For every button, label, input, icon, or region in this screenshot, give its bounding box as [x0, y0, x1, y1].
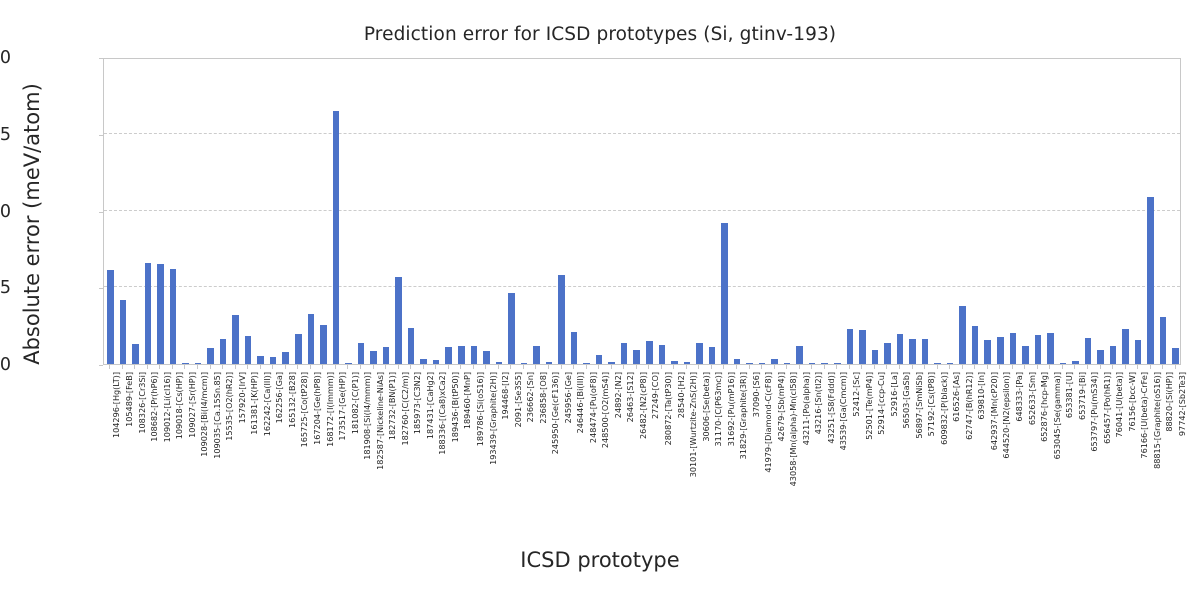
- y-tick-label: 0: [0, 355, 11, 375]
- y-tick-label: 15: [0, 125, 11, 145]
- bar: [471, 346, 478, 364]
- bar: [834, 363, 841, 364]
- x-tick-label: 653719-[Bi]: [1078, 372, 1087, 420]
- x-tick-label: 245956-[Ge]: [564, 372, 573, 423]
- x-tick-mark: [285, 365, 286, 369]
- bar: [195, 363, 202, 364]
- bar: [282, 352, 289, 364]
- x-tick-label: 185973-[C3N2]: [413, 372, 422, 434]
- x-tick-mark: [172, 365, 173, 369]
- x-tick-label: 642937-[Mn(cP20)]: [990, 372, 999, 450]
- x-tick-label: 43539-[Ga(Cmcm)]: [839, 372, 848, 450]
- y-tick-label: 5: [0, 278, 11, 298]
- x-tick-mark: [1062, 365, 1063, 369]
- x-tick-label: 26463-[S12]: [626, 372, 635, 422]
- x-tick-label: 52501-[Te(mP4)]: [865, 372, 874, 440]
- y-tick-mark: [99, 135, 103, 136]
- bar: [521, 363, 528, 364]
- bar: [671, 361, 678, 364]
- bar: [746, 363, 753, 364]
- x-tick-label: 43251-[S8(Fddd)]: [827, 372, 836, 444]
- x-tick-label: 41979-[Diamond-C(cF8)]: [764, 372, 773, 473]
- x-tick-label: 31692-[Pu(mP16)]: [727, 372, 736, 446]
- bar: [220, 339, 227, 364]
- x-tick-mark: [686, 365, 687, 369]
- bar: [1022, 346, 1029, 364]
- x-tick-label: 109028-[Bi(I4/mcm)]: [200, 372, 209, 457]
- bar: [358, 343, 365, 364]
- bar: [1072, 361, 1079, 364]
- x-tick-label: 62747-[B(hR12)]: [965, 372, 974, 440]
- x-tick-label: 24892-[N2]: [614, 372, 623, 418]
- x-tick-label: 193439-[Graphite(2H)]: [489, 372, 498, 465]
- x-tick-mark: [1175, 365, 1176, 369]
- x-tick-label: 88820-[Si(HP)]: [1165, 372, 1174, 432]
- x-tick-mark: [786, 365, 787, 369]
- x-tick-mark: [711, 365, 712, 369]
- x-tick-label: 109035-[Ca.15Sn.85]: [213, 372, 222, 459]
- bar: [308, 314, 315, 364]
- bar: [182, 363, 189, 364]
- x-tick-mark: [974, 365, 975, 369]
- x-tick-mark: [824, 365, 825, 369]
- x-tick-label: 246446-[Bi(III)]: [576, 372, 585, 433]
- x-tick-mark: [1125, 365, 1126, 369]
- x-tick-mark: [398, 365, 399, 369]
- x-tick-mark: [573, 365, 574, 369]
- x-tick-label: 189460-[MnP]: [463, 372, 472, 429]
- bar: [709, 347, 716, 364]
- x-tick-label: 280872-[Ta(tP30)]: [664, 372, 673, 445]
- bar: [1047, 333, 1054, 364]
- x-tick-label: 97742-[Sb2Te3]: [1178, 372, 1187, 436]
- bar: [508, 293, 515, 364]
- bar: [383, 347, 390, 364]
- bar: [571, 332, 578, 364]
- bar: [333, 111, 340, 364]
- bar: [997, 337, 1004, 364]
- bar: [771, 359, 778, 364]
- x-tick-label: 43216-[Sn(tI2)]: [814, 372, 823, 434]
- bar: [784, 363, 791, 364]
- x-tick-label: 639810-[In]: [977, 372, 986, 420]
- x-tick-mark: [561, 365, 562, 369]
- x-tick-label: 157920-[IrV]: [238, 372, 247, 423]
- x-tick-mark: [736, 365, 737, 369]
- x-tick-mark: [636, 365, 637, 369]
- x-tick-mark: [861, 365, 862, 369]
- bar: [659, 345, 666, 364]
- y-tick-mark: [99, 288, 103, 289]
- x-tick-mark: [272, 365, 273, 369]
- x-tick-mark: [134, 365, 135, 369]
- bar: [433, 360, 440, 364]
- bar: [1085, 338, 1092, 364]
- x-tick-label: 248500-[O2(mS4)]: [601, 372, 610, 448]
- bar: [445, 347, 452, 364]
- bar: [132, 344, 139, 364]
- bar: [972, 326, 979, 364]
- x-tick-mark: [586, 365, 587, 369]
- x-tick-label: 245950-[Ge(cF136)]: [551, 372, 560, 454]
- bar: [170, 269, 177, 364]
- bar: [759, 363, 766, 364]
- bar: [984, 340, 991, 364]
- x-tick-label: 188336-[(Ca8)xCa2]: [438, 372, 447, 455]
- bar: [107, 270, 114, 364]
- x-tick-mark: [1100, 365, 1101, 369]
- x-tick-mark: [235, 365, 236, 369]
- x-tick-mark: [799, 365, 800, 369]
- bar: [120, 300, 127, 364]
- x-tick-mark: [924, 365, 925, 369]
- x-tick-mark: [184, 365, 185, 369]
- bar: [458, 346, 465, 364]
- bar: [684, 362, 691, 364]
- x-tick-label: 76041-[U(beta)]: [1115, 372, 1124, 437]
- bar-series: [104, 59, 1180, 364]
- x-tick-label: 27249-[CO]: [651, 372, 660, 419]
- x-tick-mark: [523, 365, 524, 369]
- bar: [157, 264, 164, 364]
- x-tick-label: 182732-[BN(P1)]: [388, 372, 397, 440]
- x-tick-mark: [197, 365, 198, 369]
- bar: [295, 334, 302, 364]
- x-tick-mark: [761, 365, 762, 369]
- x-tick-label: 26482-[N2(cP8)]: [639, 372, 648, 439]
- x-tick-mark: [297, 365, 298, 369]
- x-tick-label: 30606-[Se(beta)]: [702, 372, 711, 442]
- x-axis-ticks: 104296-[Hg(LT)]105489-[FeB]108326-[Cr3Si…: [103, 365, 1181, 550]
- x-tick-mark: [1024, 365, 1025, 369]
- x-tick-mark: [360, 365, 361, 369]
- x-tick-label: 181082-[C(P1)]: [351, 372, 360, 434]
- bar: [734, 359, 741, 364]
- bar: [884, 343, 891, 364]
- x-tick-mark: [811, 365, 812, 369]
- bar: [897, 334, 904, 364]
- x-tick-mark: [159, 365, 160, 369]
- x-tick-label: 52916-[La]: [890, 372, 899, 416]
- x-tick-mark: [473, 365, 474, 369]
- bar: [408, 328, 415, 364]
- bar: [245, 336, 252, 364]
- x-tick-label: 652633-[Sm]: [1028, 372, 1037, 425]
- x-tick-label: 656457-[Po(hR1)]: [1103, 372, 1112, 444]
- x-tick-mark: [774, 365, 775, 369]
- x-tick-label: 653797-[Pu(mS34)]: [1090, 372, 1099, 452]
- x-tick-label: 181908-[Si(I4/mmm)]: [363, 372, 372, 460]
- x-tick-label: 109027-[Sr(HP)]: [188, 372, 197, 438]
- bar: [1172, 348, 1179, 364]
- x-tick-mark: [1049, 365, 1050, 369]
- bar: [558, 275, 565, 364]
- x-tick-mark: [912, 365, 913, 369]
- x-tick-mark: [1087, 365, 1088, 369]
- x-tick-mark: [460, 365, 461, 369]
- x-tick-label: 109012-[Li(cI16)]: [163, 372, 172, 442]
- x-tick-label: 616526-[As]: [952, 372, 961, 422]
- x-tick-label: 162256-[Ga]: [275, 372, 284, 423]
- x-tick-mark: [335, 365, 336, 369]
- x-tick-mark: [937, 365, 938, 369]
- x-tick-mark: [435, 365, 436, 369]
- x-tick-label: 236858-[O8]: [539, 372, 548, 424]
- bar: [1060, 363, 1067, 364]
- x-tick-mark: [849, 365, 850, 369]
- bar: [320, 325, 327, 364]
- x-tick-label: 653381-[U]: [1065, 372, 1074, 418]
- x-tick-label: 56897-[SmNiSb]: [915, 372, 924, 439]
- x-tick-mark: [1150, 365, 1151, 369]
- bar: [621, 343, 628, 364]
- bar: [420, 359, 427, 364]
- bar: [696, 343, 703, 364]
- bar: [947, 363, 954, 364]
- x-tick-label: 189786-[Si(oS16)]: [476, 372, 485, 446]
- x-tick-label: 43058-[Mn(alpha)-Mn(cI58)]: [789, 372, 798, 486]
- bar: [533, 346, 540, 364]
- x-tick-mark: [109, 365, 110, 369]
- bar: [483, 351, 490, 364]
- bar: [345, 363, 352, 364]
- bar: [270, 357, 277, 364]
- x-tick-label: 42679-[Sb(mP4)]: [777, 372, 786, 442]
- x-tick-mark: [673, 365, 674, 369]
- bar: [496, 362, 503, 364]
- x-tick-label: 165725-[Co(tP28)]: [300, 372, 309, 447]
- bar: [872, 350, 879, 364]
- bar: [1160, 317, 1167, 364]
- bar: [1110, 346, 1117, 364]
- x-tick-mark: [886, 365, 887, 369]
- x-tick-label: 57192-[Cs(tP8)]: [927, 372, 936, 436]
- x-tick-label: 182760-[C(C2/m)]: [401, 372, 410, 446]
- bar: [796, 346, 803, 364]
- bar: [608, 362, 615, 364]
- x-tick-label: 108682-[Pr(hP6)]: [150, 372, 159, 442]
- x-tick-label: 2091-[Se3S5]: [514, 372, 523, 427]
- x-tick-mark: [1112, 365, 1113, 369]
- x-tick-label: 76156-[bcc-W]: [1128, 372, 1137, 432]
- bar: [145, 263, 152, 364]
- x-tick-mark: [222, 365, 223, 369]
- bar: [847, 329, 854, 364]
- x-tick-mark: [147, 365, 148, 369]
- x-tick-label: 653045-[Se(gamma)]: [1053, 372, 1062, 459]
- y-axis-label: Absolute error (meV/atom): [20, 44, 44, 404]
- x-tick-mark: [949, 365, 950, 369]
- x-tick-mark: [548, 365, 549, 369]
- bar: [859, 330, 866, 364]
- x-tick-label: 194468-[I2]: [501, 372, 510, 420]
- x-tick-mark: [410, 365, 411, 369]
- x-tick-label: 248474-[Pu(oF8)]: [589, 372, 598, 443]
- bar: [1147, 197, 1154, 364]
- x-tick-mark: [260, 365, 261, 369]
- x-tick-mark: [661, 365, 662, 369]
- x-tick-label: 105489-[FeB]: [125, 372, 134, 427]
- x-tick-mark: [611, 365, 612, 369]
- bar: [934, 363, 941, 364]
- x-tick-mark: [1037, 365, 1038, 369]
- bar: [257, 356, 264, 364]
- bar: [1097, 350, 1104, 364]
- x-tick-label: 88815-[Graphite(oS16)]: [1153, 372, 1162, 469]
- x-tick-mark: [1162, 365, 1163, 369]
- bar: [1010, 333, 1017, 364]
- x-tick-label: 31829-[Graphite(3R)]: [739, 372, 748, 459]
- x-tick-mark: [247, 365, 248, 369]
- x-tick-label: 187431-[CaHg2]: [426, 372, 435, 439]
- x-tick-label: 167204-[Ge(hP8)]: [313, 372, 322, 445]
- bar: [596, 355, 603, 364]
- x-tick-mark: [698, 365, 699, 369]
- bar: [583, 363, 590, 364]
- x-tick-mark: [836, 365, 837, 369]
- x-axis-label: ICSD prototype: [0, 548, 1200, 572]
- x-tick-mark: [987, 365, 988, 369]
- x-tick-mark: [498, 365, 499, 369]
- y-tick-label: 10: [0, 202, 11, 222]
- bar: [633, 350, 640, 364]
- bar: [1122, 329, 1129, 364]
- x-tick-mark: [385, 365, 386, 369]
- bar: [646, 341, 653, 364]
- bar: [395, 277, 402, 364]
- x-tick-mark: [623, 365, 624, 369]
- bar: [721, 223, 728, 364]
- x-tick-mark: [1074, 365, 1075, 369]
- x-tick-label: 162242-[Ca(III)]: [263, 372, 272, 436]
- chart-title: Prediction error for ICSD prototypes (Si…: [0, 24, 1200, 45]
- x-tick-label: 168172-[I(Immm)]: [326, 372, 335, 447]
- x-tick-mark: [962, 365, 963, 369]
- x-tick-mark: [210, 365, 211, 369]
- x-tick-mark: [423, 365, 424, 369]
- x-tick-mark: [535, 365, 536, 369]
- x-tick-mark: [1137, 365, 1138, 369]
- x-tick-label: 644520-[N2(epsilon)]: [1002, 372, 1011, 459]
- x-tick-label: 108326-[Cr3Si]: [138, 372, 147, 434]
- x-tick-label: 37090-[S6]: [752, 372, 761, 417]
- x-tick-mark: [347, 365, 348, 369]
- bar: [922, 339, 929, 364]
- x-tick-mark: [485, 365, 486, 369]
- x-tick-label: 28540-[H2]: [677, 372, 686, 418]
- bar-chart-figure: Prediction error for ICSD prototypes (Si…: [0, 0, 1200, 600]
- bar: [821, 363, 828, 364]
- x-tick-mark: [999, 365, 1000, 369]
- x-tick-label: 648333-[Pa]: [1015, 372, 1024, 422]
- x-tick-label: 76166-[U(beta)-CrFe]: [1140, 372, 1149, 459]
- bar: [1135, 340, 1142, 364]
- bar: [546, 362, 553, 364]
- y-tick-mark: [99, 58, 103, 59]
- y-tick-label: 20: [0, 48, 11, 68]
- x-tick-mark: [122, 365, 123, 369]
- x-tick-label: 104296-[Hg(LT)]: [112, 372, 121, 438]
- x-tick-label: 52914-[ccp-Cu]: [877, 372, 886, 435]
- bar: [909, 339, 916, 364]
- x-tick-label: 165132-[B28]: [288, 372, 297, 428]
- x-tick-label: 161381-[K(HP)]: [250, 372, 259, 435]
- x-tick-label: 56503-[GaSb]: [902, 372, 911, 429]
- x-tick-label: 31170-[C(P63mc)]: [714, 372, 723, 446]
- bar: [207, 348, 214, 364]
- bar: [1035, 335, 1042, 364]
- x-tick-mark: [598, 365, 599, 369]
- x-tick-label: 52412-[Sc]: [852, 372, 861, 417]
- y-tick-mark: [99, 212, 103, 213]
- x-tick-mark: [510, 365, 511, 369]
- x-tick-label: 236662-[Sn]: [526, 372, 535, 422]
- bar: [370, 351, 377, 364]
- x-tick-mark: [723, 365, 724, 369]
- x-tick-label: 609832-[P(black)]: [940, 372, 949, 445]
- x-tick-label: 173517-[Ge(HP)]: [338, 372, 347, 441]
- x-tick-label: 189436-[B(tP50)]: [451, 372, 460, 442]
- x-tick-mark: [310, 365, 311, 369]
- x-tick-mark: [373, 365, 374, 369]
- x-tick-label: 30101-[Wurtzite-ZnS(2H)]: [689, 372, 698, 477]
- x-tick-label: 182587-[Nickeline-NiAs]: [376, 372, 385, 470]
- x-tick-label: 652876-[hcp-Mg]: [1040, 372, 1049, 442]
- x-tick-mark: [749, 365, 750, 369]
- x-tick-mark: [899, 365, 900, 369]
- x-tick-mark: [874, 365, 875, 369]
- x-tick-mark: [322, 365, 323, 369]
- bar: [809, 363, 816, 364]
- x-tick-mark: [448, 365, 449, 369]
- x-tick-mark: [648, 365, 649, 369]
- x-tick-label: 109018-[Cs(HP)]: [175, 372, 184, 439]
- bar: [959, 306, 966, 364]
- x-tick-mark: [1012, 365, 1013, 369]
- bar: [232, 315, 239, 364]
- x-tick-label: 15535-[O2(hR2)]: [225, 372, 234, 441]
- plot-area: [103, 58, 1181, 365]
- x-tick-label: 43211-[Po(alpha)]: [802, 372, 811, 445]
